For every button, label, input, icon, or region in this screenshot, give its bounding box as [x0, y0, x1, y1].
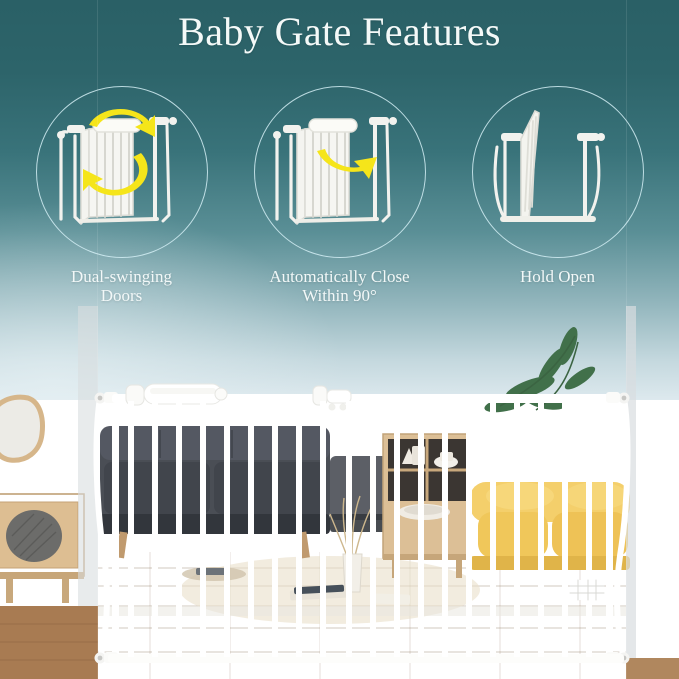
- gate-hold-open-icon: [473, 87, 643, 257]
- product-feature-image: Baby Gate Features: [0, 0, 679, 679]
- feature-circle-2: [254, 86, 426, 258]
- feature-item-auto-close: Automatically Close Within 90°: [242, 86, 438, 305]
- wall-mirror: [0, 397, 42, 460]
- feature-caption-3: Hold Open: [520, 267, 595, 286]
- page-title: Baby Gate Features: [0, 8, 679, 55]
- feature-circle-3: [472, 86, 644, 258]
- feature-caption-1: Dual-swinging Doors: [71, 267, 172, 305]
- lifestyle-photo: 0%" stop-color="#a8c0ca"/> 60%" stop-col…: [0, 306, 679, 679]
- gate-lower-mesh: [570, 580, 604, 600]
- feature-item-dual-swinging: Dual-swinging Doors: [24, 86, 220, 305]
- feature-caption-2: Automatically Close Within 90°: [269, 267, 409, 305]
- feature-circle-1: [36, 86, 208, 258]
- photo-left-seam: [97, 0, 98, 679]
- gate-auto-close-icon: [255, 87, 425, 257]
- photo-right-seam: [626, 0, 627, 679]
- gate-dual-swing-icon: [37, 87, 207, 257]
- feature-list: Dual-swinging Doors: [0, 86, 679, 306]
- room-scene: 0%" stop-color="#a8c0ca"/> 60%" stop-col…: [0, 306, 679, 679]
